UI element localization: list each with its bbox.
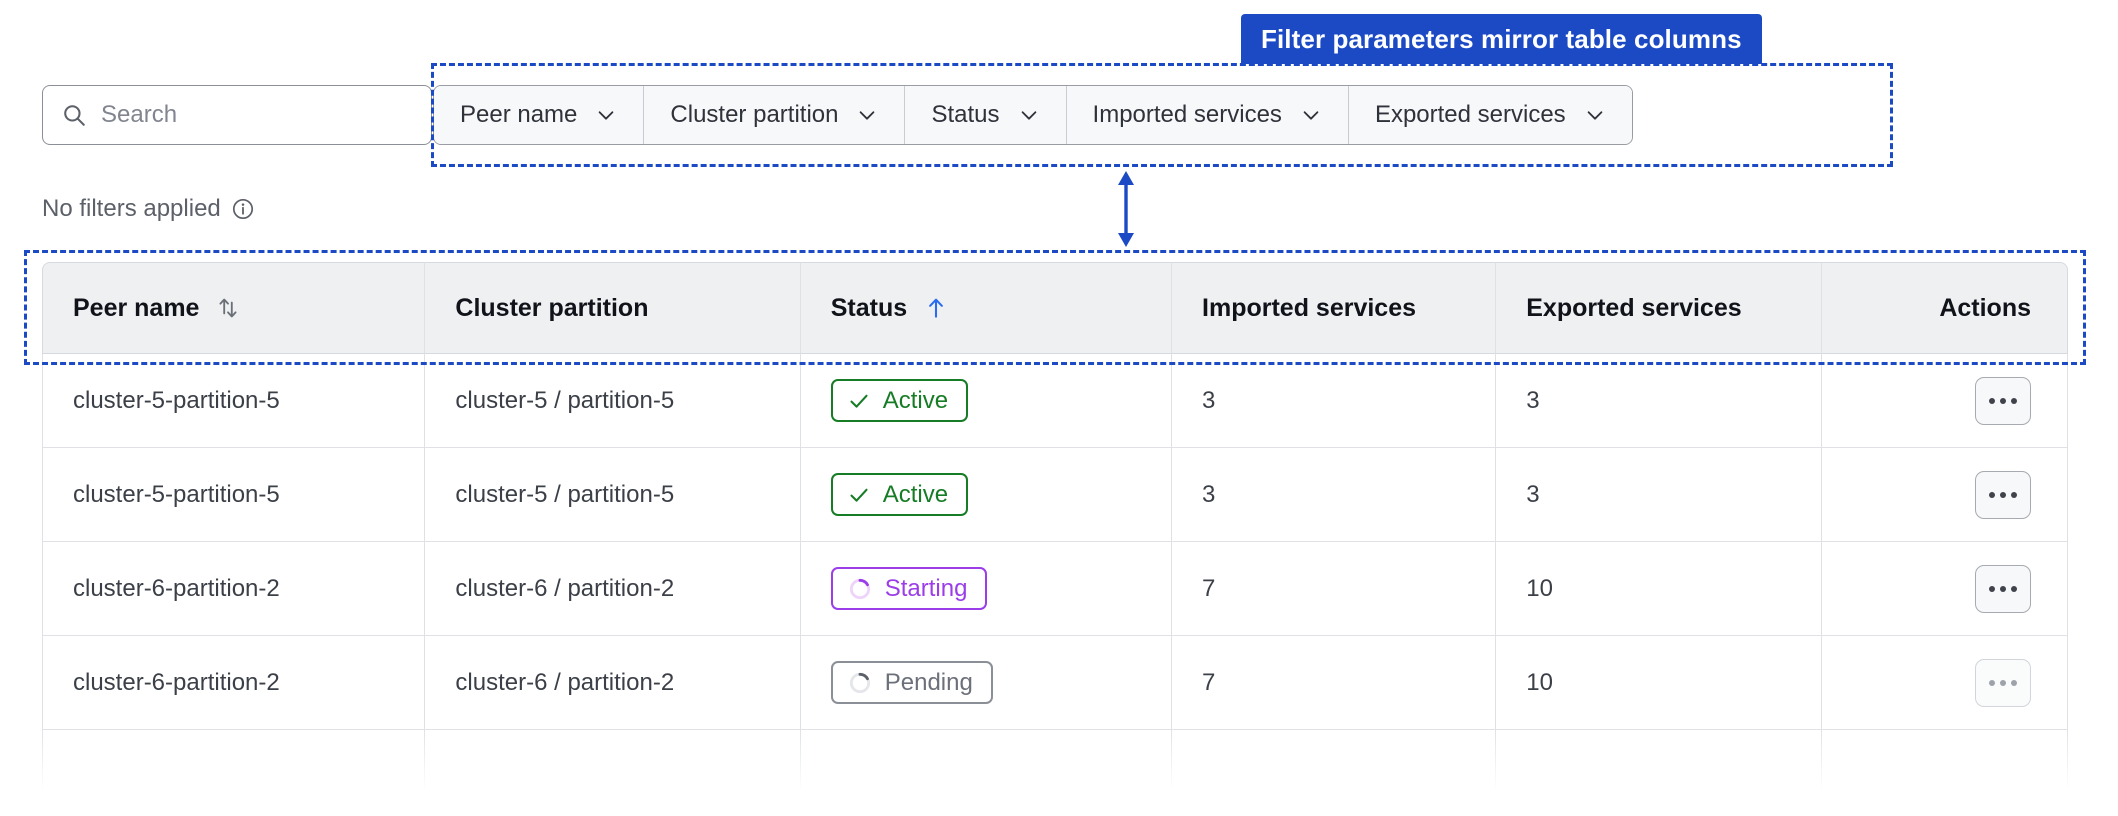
filter-chip-peer-name[interactable]: Peer name [434,86,644,144]
ellipsis-icon [1989,398,2017,404]
search-icon [61,102,87,128]
column-header-label: Status [831,294,907,323]
filter-chip-label: Cluster partition [670,101,838,129]
cell-peer-name: cluster-5-partition-5 [42,448,425,542]
row-actions-button[interactable] [1975,471,2031,519]
sort-updown-icon[interactable] [215,295,241,321]
status-badge: Active [831,473,968,517]
check-icon [847,389,871,413]
status-badge: Pending [831,661,993,705]
search-input[interactable] [101,101,413,129]
cell-cluster-partition: cluster-5 / partition-5 [425,354,800,448]
filter-chip-label: Exported services [1375,101,1566,129]
cell-imported-services: 7 [1172,636,1496,730]
row-actions-button[interactable] [1975,565,2031,613]
arrow-up-icon[interactable] [923,295,949,321]
cell-exported-services: 10 [1496,542,1822,636]
cell-peer-name: cluster-5-partition-5 [42,354,425,448]
connector-double-arrow-icon [1108,170,1144,248]
ellipsis-icon [1989,492,2017,498]
cell-status: Starting [801,542,1172,636]
cell-status [801,730,1172,816]
row-actions-button[interactable] [1975,377,2031,425]
table-row[interactable]: cluster-6-partition-2 cluster-6 / partit… [42,636,2068,730]
column-header-label: Exported services [1526,294,1741,323]
cell-actions [1822,448,2068,542]
filter-chip-imported-services[interactable]: Imported services [1067,86,1349,144]
cell-status: Active [801,448,1172,542]
cell-status: Pending [801,636,1172,730]
chevron-down-icon [1300,104,1322,126]
cell-cluster-partition: cluster-5 / partition-5 [425,448,800,542]
cell-imported-services [1172,730,1496,816]
status-badge-label: Active [883,387,948,415]
cell-actions [1822,542,2068,636]
cell-cluster-partition [425,730,800,816]
filter-toolbar: Peer name Cluster partition Status Impor… [42,85,1633,145]
cell-peer-name [42,730,425,816]
cell-actions [1822,354,2068,448]
cell-actions [1822,730,2068,816]
info-icon[interactable] [231,197,255,221]
cell-cluster-partition: cluster-6 / partition-2 [425,636,800,730]
cell-peer-name: cluster-6-partition-2 [42,542,425,636]
cell-exported-services: 3 [1496,354,1822,448]
cell-exported-services: 3 [1496,448,1822,542]
column-header-peer-name[interactable]: Peer name [42,262,425,354]
cell-imported-services: 3 [1172,354,1496,448]
spinner-icon [847,576,873,602]
cell-peer-name: cluster-6-partition-2 [42,636,425,730]
ellipsis-icon [1989,586,2017,592]
filter-chip-cluster-partition[interactable]: Cluster partition [644,86,905,144]
cell-imported-services: 3 [1172,448,1496,542]
ellipsis-icon [1989,680,2017,686]
search-box[interactable] [42,85,432,145]
cell-exported-services [1496,730,1822,816]
chevron-down-icon [1584,104,1606,126]
chevron-down-icon [856,104,878,126]
filter-status-label: No filters applied [42,195,221,223]
row-actions-button[interactable] [1975,659,2031,707]
cell-actions [1822,636,2068,730]
spinner-icon [847,670,873,696]
column-header-imported-services[interactable]: Imported services [1172,262,1496,354]
table-row[interactable]: cluster-5-partition-5 cluster-5 / partit… [42,448,2068,542]
column-header-exported-services[interactable]: Exported services [1496,262,1822,354]
screenshot-root: Filter parameters mirror table columns P… [0,0,2118,816]
table-row[interactable]: cluster-6-partition-2 cluster-6 / partit… [42,542,2068,636]
filter-chip-status[interactable]: Status [905,86,1066,144]
filter-chip-label: Peer name [460,101,577,129]
status-badge: Starting [831,567,988,611]
chevron-down-icon [1018,104,1040,126]
filter-chip-group: Peer name Cluster partition Status Impor… [433,85,1633,145]
peering-table: Peer name Cluster partition [42,262,2068,816]
chevron-down-icon [595,104,617,126]
column-header-label: Cluster partition [455,294,648,323]
column-header-cluster-partition[interactable]: Cluster partition [425,262,800,354]
table-header-row: Peer name Cluster partition [42,262,2068,354]
status-badge: Active [831,379,968,423]
cell-exported-services: 10 [1496,636,1822,730]
table-row-partial[interactable] [42,730,2068,816]
table-row[interactable]: cluster-5-partition-5 cluster-5 / partit… [42,354,2068,448]
status-badge-label: Active [883,481,948,509]
status-badge-label: Starting [885,575,968,603]
column-header-actions: Actions [1822,262,2068,354]
callout-banner-label: Filter parameters mirror table columns [1261,24,1742,55]
column-header-status[interactable]: Status [801,262,1172,354]
cell-cluster-partition: cluster-6 / partition-2 [425,542,800,636]
cell-status: Active [801,354,1172,448]
check-icon [847,483,871,507]
filter-chip-label: Imported services [1093,101,1282,129]
column-header-label: Imported services [1202,294,1416,323]
filter-chip-label: Status [931,101,999,129]
column-header-label: Actions [1939,294,2031,323]
filter-status-row: No filters applied [42,195,255,223]
cell-imported-services: 7 [1172,542,1496,636]
filter-chip-exported-services[interactable]: Exported services [1349,86,1632,144]
status-badge-label: Pending [885,669,973,697]
column-header-label: Peer name [73,294,199,323]
callout-banner: Filter parameters mirror table columns [1241,14,1762,64]
